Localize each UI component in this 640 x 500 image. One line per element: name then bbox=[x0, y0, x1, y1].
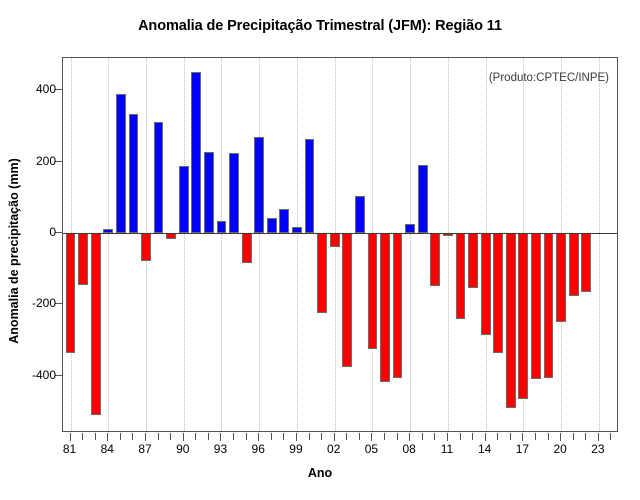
x-tick-mark bbox=[422, 433, 423, 440]
x-tick-mark bbox=[573, 433, 574, 440]
x-axis-title: Ano bbox=[0, 466, 640, 480]
x-tick-mark bbox=[132, 433, 133, 440]
x-tick-mark bbox=[296, 433, 297, 441]
x-tick-mark bbox=[271, 433, 272, 440]
x-tick-label: 02 bbox=[319, 442, 349, 456]
x-tick-label: 99 bbox=[281, 442, 311, 456]
x-tick-mark bbox=[195, 433, 196, 440]
x-tick-mark bbox=[472, 433, 473, 440]
zero-baseline bbox=[63, 233, 617, 234]
x-tick-mark bbox=[359, 433, 360, 440]
x-tick-mark bbox=[397, 433, 398, 440]
x-tick-mark bbox=[585, 433, 586, 440]
y-tick-mark bbox=[55, 232, 62, 233]
x-tick-mark bbox=[447, 433, 448, 441]
x-tick-label: 93 bbox=[205, 442, 235, 456]
y-tick-mark bbox=[55, 161, 62, 162]
x-tick-label: 08 bbox=[394, 442, 424, 456]
x-tick-mark bbox=[560, 433, 561, 441]
x-tick-mark bbox=[485, 433, 486, 441]
y-tick-mark bbox=[55, 375, 62, 376]
y-tick-label: 0 bbox=[10, 225, 56, 239]
x-tick-label: 96 bbox=[243, 442, 273, 456]
plot-area: (Produto:CPTEC/INPE) bbox=[62, 57, 618, 432]
y-tick-mark bbox=[55, 303, 62, 304]
x-tick-label: 11 bbox=[432, 442, 462, 456]
x-tick-label: 14 bbox=[470, 442, 500, 456]
x-tick-mark bbox=[522, 433, 523, 441]
chart-figure: Anomalia de Precipitação Trimestral (JFM… bbox=[0, 0, 640, 500]
x-tick-mark bbox=[334, 433, 335, 441]
x-tick-mark bbox=[321, 433, 322, 440]
x-tick-label: 90 bbox=[168, 442, 198, 456]
x-tick-mark bbox=[107, 433, 108, 441]
y-tick-label: -200 bbox=[10, 296, 56, 310]
x-tick-label: 17 bbox=[507, 442, 537, 456]
x-tick-mark bbox=[95, 433, 96, 440]
x-tick-label: 23 bbox=[583, 442, 613, 456]
x-tick-mark bbox=[258, 433, 259, 441]
x-tick-mark bbox=[309, 433, 310, 440]
chart-title: Anomalia de Precipitação Trimestral (JFM… bbox=[0, 18, 640, 34]
y-tick-mark bbox=[55, 89, 62, 90]
x-tick-mark bbox=[233, 433, 234, 440]
x-tick-mark bbox=[246, 433, 247, 440]
x-tick-mark bbox=[610, 433, 611, 440]
x-tick-mark bbox=[283, 433, 284, 440]
x-tick-mark bbox=[170, 433, 171, 440]
x-tick-mark bbox=[346, 433, 347, 440]
y-tick-label: -400 bbox=[10, 368, 56, 382]
x-tick-mark bbox=[548, 433, 549, 440]
x-tick-mark bbox=[208, 433, 209, 440]
x-tick-mark bbox=[409, 433, 410, 441]
source-annotation: (Produto:CPTEC/INPE) bbox=[489, 72, 609, 84]
y-tick-label: 400 bbox=[10, 82, 56, 96]
x-tick-label: 20 bbox=[545, 442, 575, 456]
x-tick-mark bbox=[510, 433, 511, 440]
x-tick-mark bbox=[535, 433, 536, 440]
x-tick-mark bbox=[460, 433, 461, 440]
x-tick-mark bbox=[145, 433, 146, 441]
x-tick-mark bbox=[183, 433, 184, 441]
x-tick-label: 84 bbox=[92, 442, 122, 456]
x-tick-mark bbox=[158, 433, 159, 440]
x-tick-mark bbox=[120, 433, 121, 440]
x-tick-label: 05 bbox=[356, 442, 386, 456]
y-tick-label: 200 bbox=[10, 154, 56, 168]
x-tick-mark bbox=[371, 433, 372, 441]
x-tick-mark bbox=[384, 433, 385, 440]
x-tick-mark bbox=[220, 433, 221, 441]
x-tick-mark bbox=[70, 433, 71, 441]
x-tick-mark bbox=[497, 433, 498, 440]
x-tick-label: 87 bbox=[130, 442, 160, 456]
y-axis-title: Anomalia de precipitação (mm) bbox=[7, 86, 21, 416]
x-tick-mark bbox=[82, 433, 83, 440]
zero-layer bbox=[63, 58, 617, 431]
x-tick-mark bbox=[598, 433, 599, 441]
x-tick-label: 81 bbox=[55, 442, 85, 456]
x-tick-mark bbox=[434, 433, 435, 440]
